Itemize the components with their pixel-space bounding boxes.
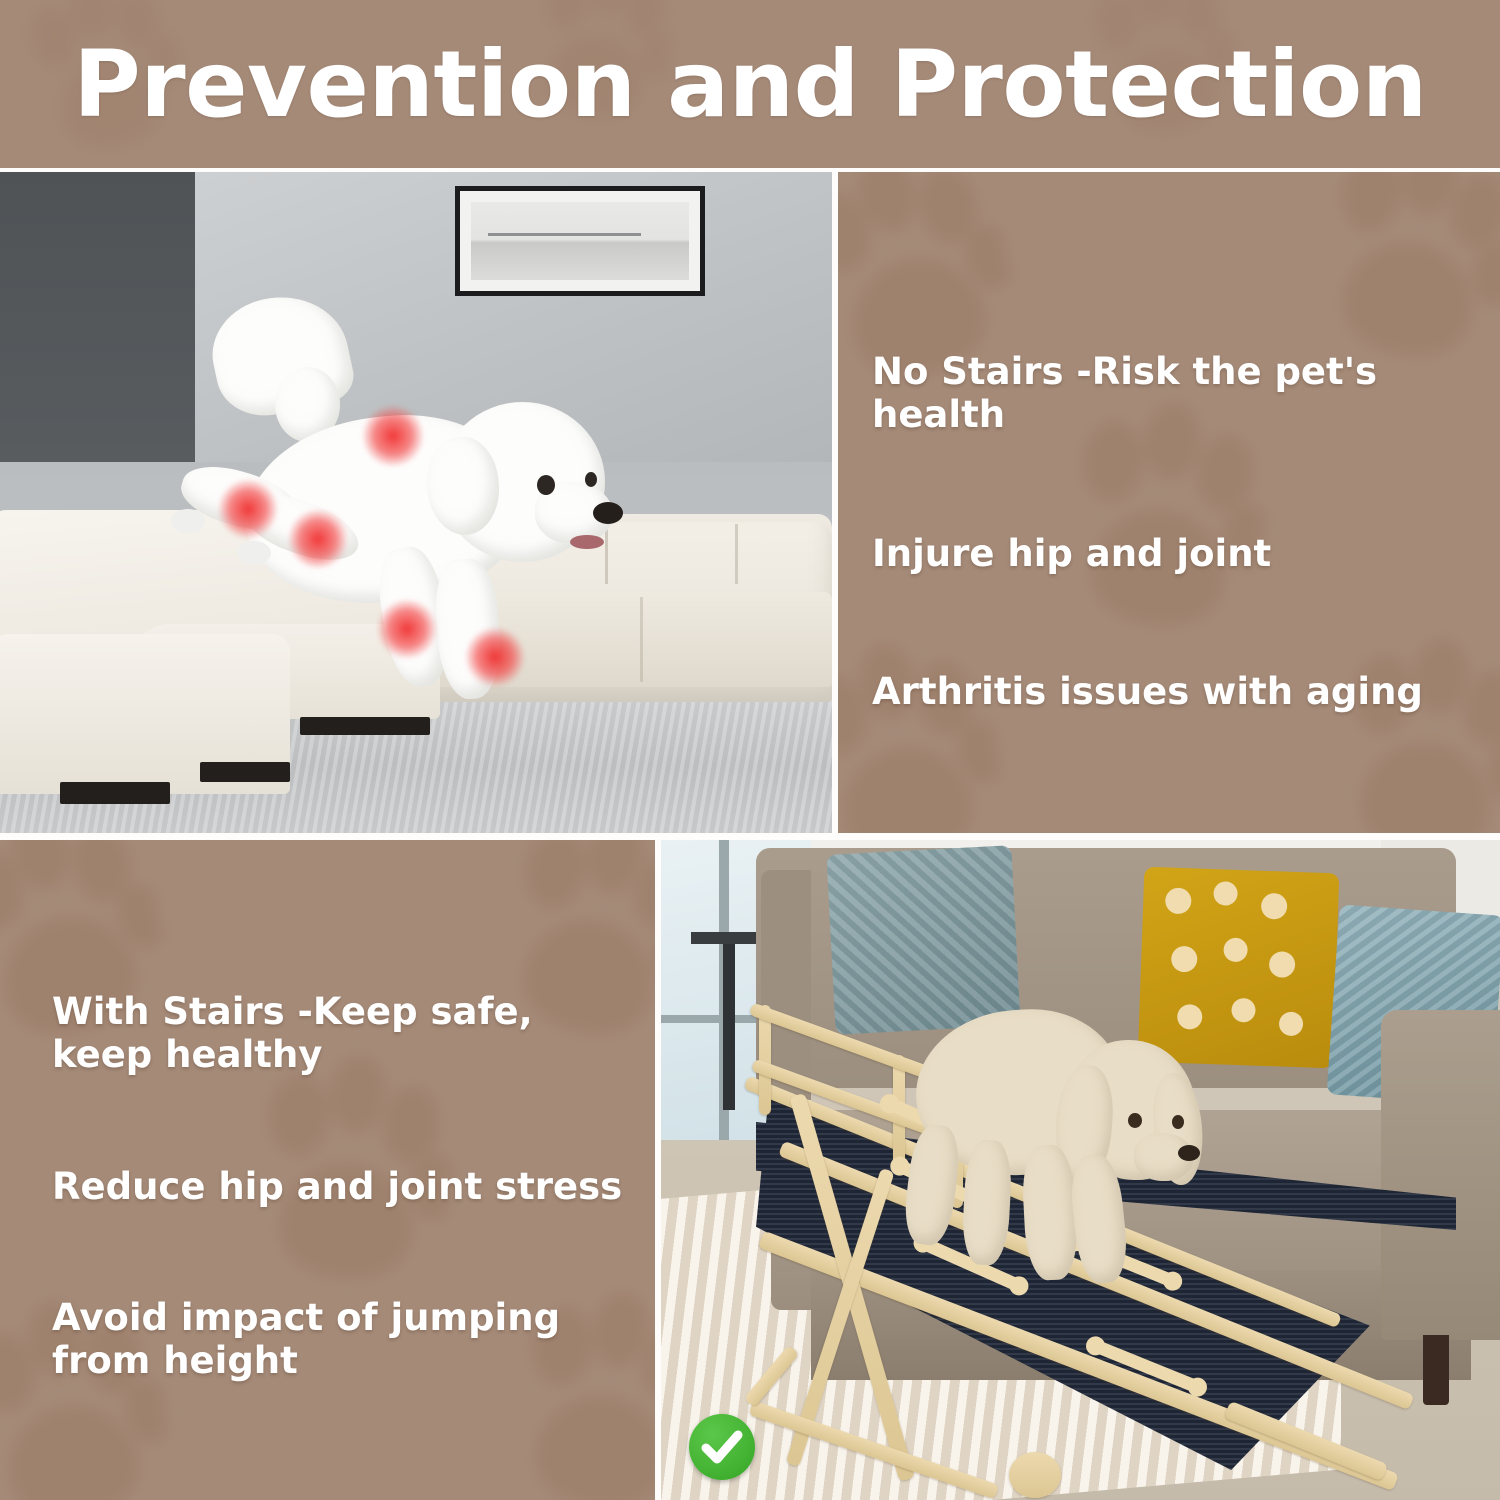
ramp-foot-bar [749,1400,1000,1499]
pain-marker [465,627,525,687]
benefit-line-1: With Stairs -Keep safe, keep healthy [52,990,632,1077]
pain-marker [377,599,437,659]
dog-paw [237,541,271,565]
status-badge-positive [689,1414,755,1480]
dog-eye [1128,1113,1142,1128]
sofa-seam [735,524,738,584]
benefit-line-2: Reduce hip and joint stress [52,1165,632,1208]
dog-front-leg [901,1123,963,1248]
sofa-leg [60,782,170,804]
dog-mouth [570,535,604,549]
ramp-hinge [1009,1452,1061,1498]
dog-jumping-photo [0,172,832,833]
benefit-text-panel: With Stairs -Keep safe, keep healthy Red… [0,840,655,1500]
risk-text-list: No Stairs -Risk the pet's health Injure … [872,350,1492,713]
dog-eye [537,475,555,495]
risk-line-3: Arthritis issues with aging [872,670,1492,713]
pain-marker [288,509,348,569]
dog-eye [585,472,597,487]
sofa-leg [300,717,430,735]
benefit-line-3: Avoid impact of jumping from height [52,1296,632,1383]
dog-on-ramp [906,955,1196,1285]
dog-eye [1172,1115,1184,1129]
infographic-page: Prevention and Protection [0,0,1500,1500]
dog-nose [1178,1145,1200,1161]
pain-marker [362,405,424,467]
dog-ramp-photo [661,840,1500,1500]
check-icon [689,1414,755,1480]
ramp-foot-bar [744,1345,800,1408]
risk-text-panel: No Stairs -Risk the pet's health Injure … [838,172,1500,833]
benefit-text-list: With Stairs -Keep safe, keep healthy Red… [52,990,632,1382]
dog-nose [593,502,623,524]
pain-marker [218,479,278,539]
jumping-dog [165,297,625,697]
sofa-seam [640,597,643,682]
risk-line-2: Injure hip and joint [872,532,1492,575]
page-title: Prevention and Protection [0,0,1500,168]
wall-picture-frame [455,186,705,296]
header-banner: Prevention and Protection [0,0,1500,168]
risk-line-1: No Stairs -Risk the pet's health [872,350,1492,437]
sofa-leg [200,762,290,782]
dog-paw [171,509,205,533]
